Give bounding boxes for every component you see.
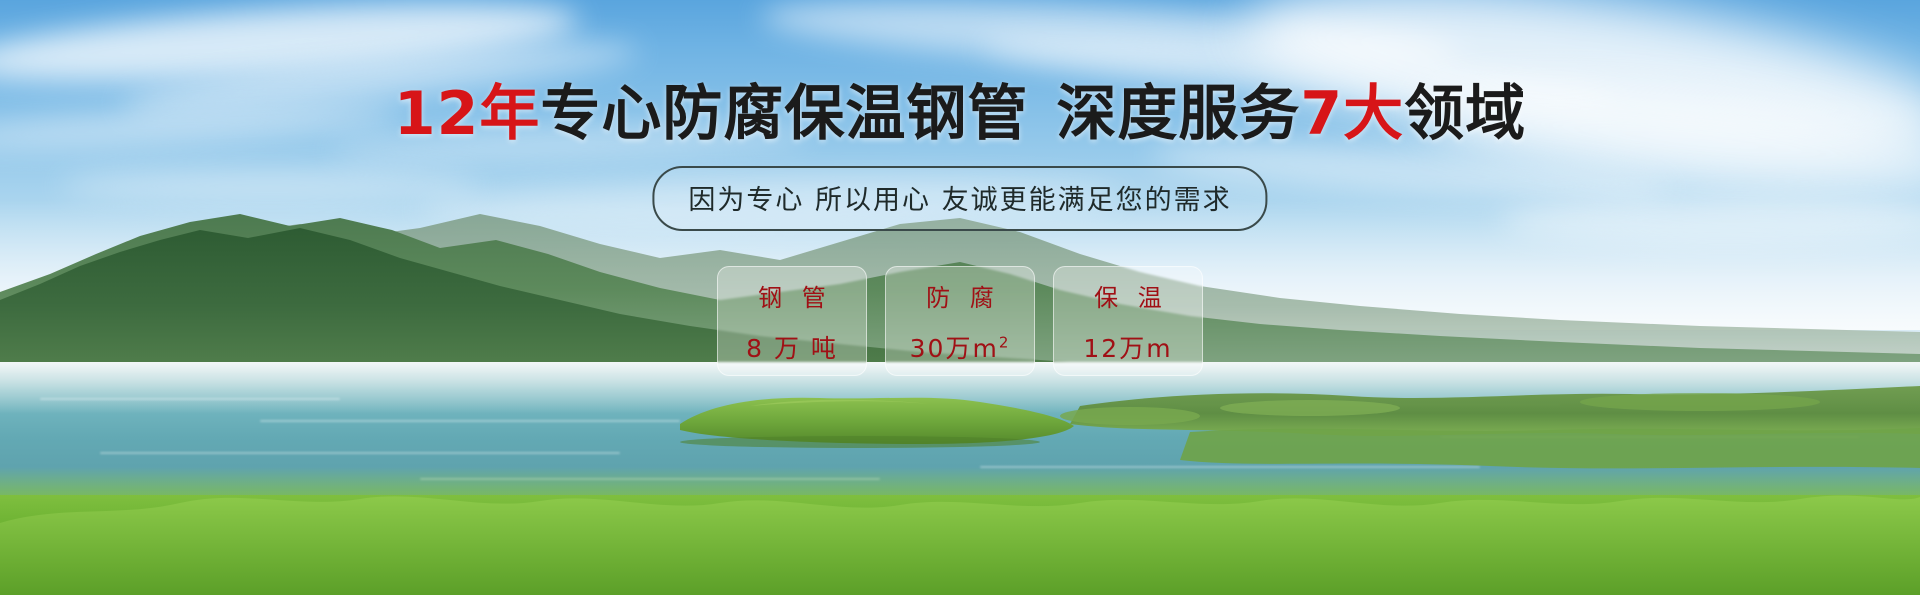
stat-card-value-text: 30万m xyxy=(910,334,999,363)
stat-card-label: 钢 管 xyxy=(752,278,832,313)
stat-card-label: 保 温 xyxy=(1088,278,1168,313)
stat-card-group: 钢 管 8 万 吨 防 腐 30万m2 保 温 12万m xyxy=(717,266,1203,376)
stat-card-value: 12万m xyxy=(1083,329,1172,365)
stat-card-anticorrosion[interactable]: 防 腐 30万m2 xyxy=(885,266,1035,376)
headline-service: 深度服务 xyxy=(1056,79,1300,149)
subtitle-pill: 因为专心 所以用心 友诚更能满足您的需求 xyxy=(652,166,1267,231)
stat-card-value-text: 8 万 吨 xyxy=(746,334,838,363)
stat-card-value: 8 万 吨 xyxy=(746,329,838,365)
stat-card-label: 防 腐 xyxy=(920,278,1000,313)
stat-card-value: 30万m2 xyxy=(910,329,1011,365)
stat-card-value-text: 12万m xyxy=(1083,334,1172,363)
stat-card-value-superscript: 2 xyxy=(999,333,1011,351)
headline-main: 专心防腐保温钢管 xyxy=(540,79,1028,149)
hero-banner: 12年专心防腐保温钢管深度服务7大领域 因为专心 所以用心 友诚更能满足您的需求… xyxy=(0,0,1920,595)
headline-fields-count: 7大 xyxy=(1300,79,1404,149)
stat-card-insulation[interactable]: 保 温 12万m xyxy=(1053,266,1203,376)
grass-island xyxy=(660,386,1080,448)
headline-years: 12年 xyxy=(394,79,541,149)
water-ripple xyxy=(100,452,620,454)
grass-blade-texture xyxy=(0,483,1920,595)
stat-card-steel-pipe[interactable]: 钢 管 8 万 吨 xyxy=(717,266,867,376)
headline: 12年专心防腐保温钢管深度服务7大领域 xyxy=(0,84,1920,144)
water-ripple xyxy=(40,398,340,400)
headline-fields: 领域 xyxy=(1404,79,1526,149)
marsh-shoreline xyxy=(1010,372,1920,482)
water-ripple xyxy=(260,420,680,422)
